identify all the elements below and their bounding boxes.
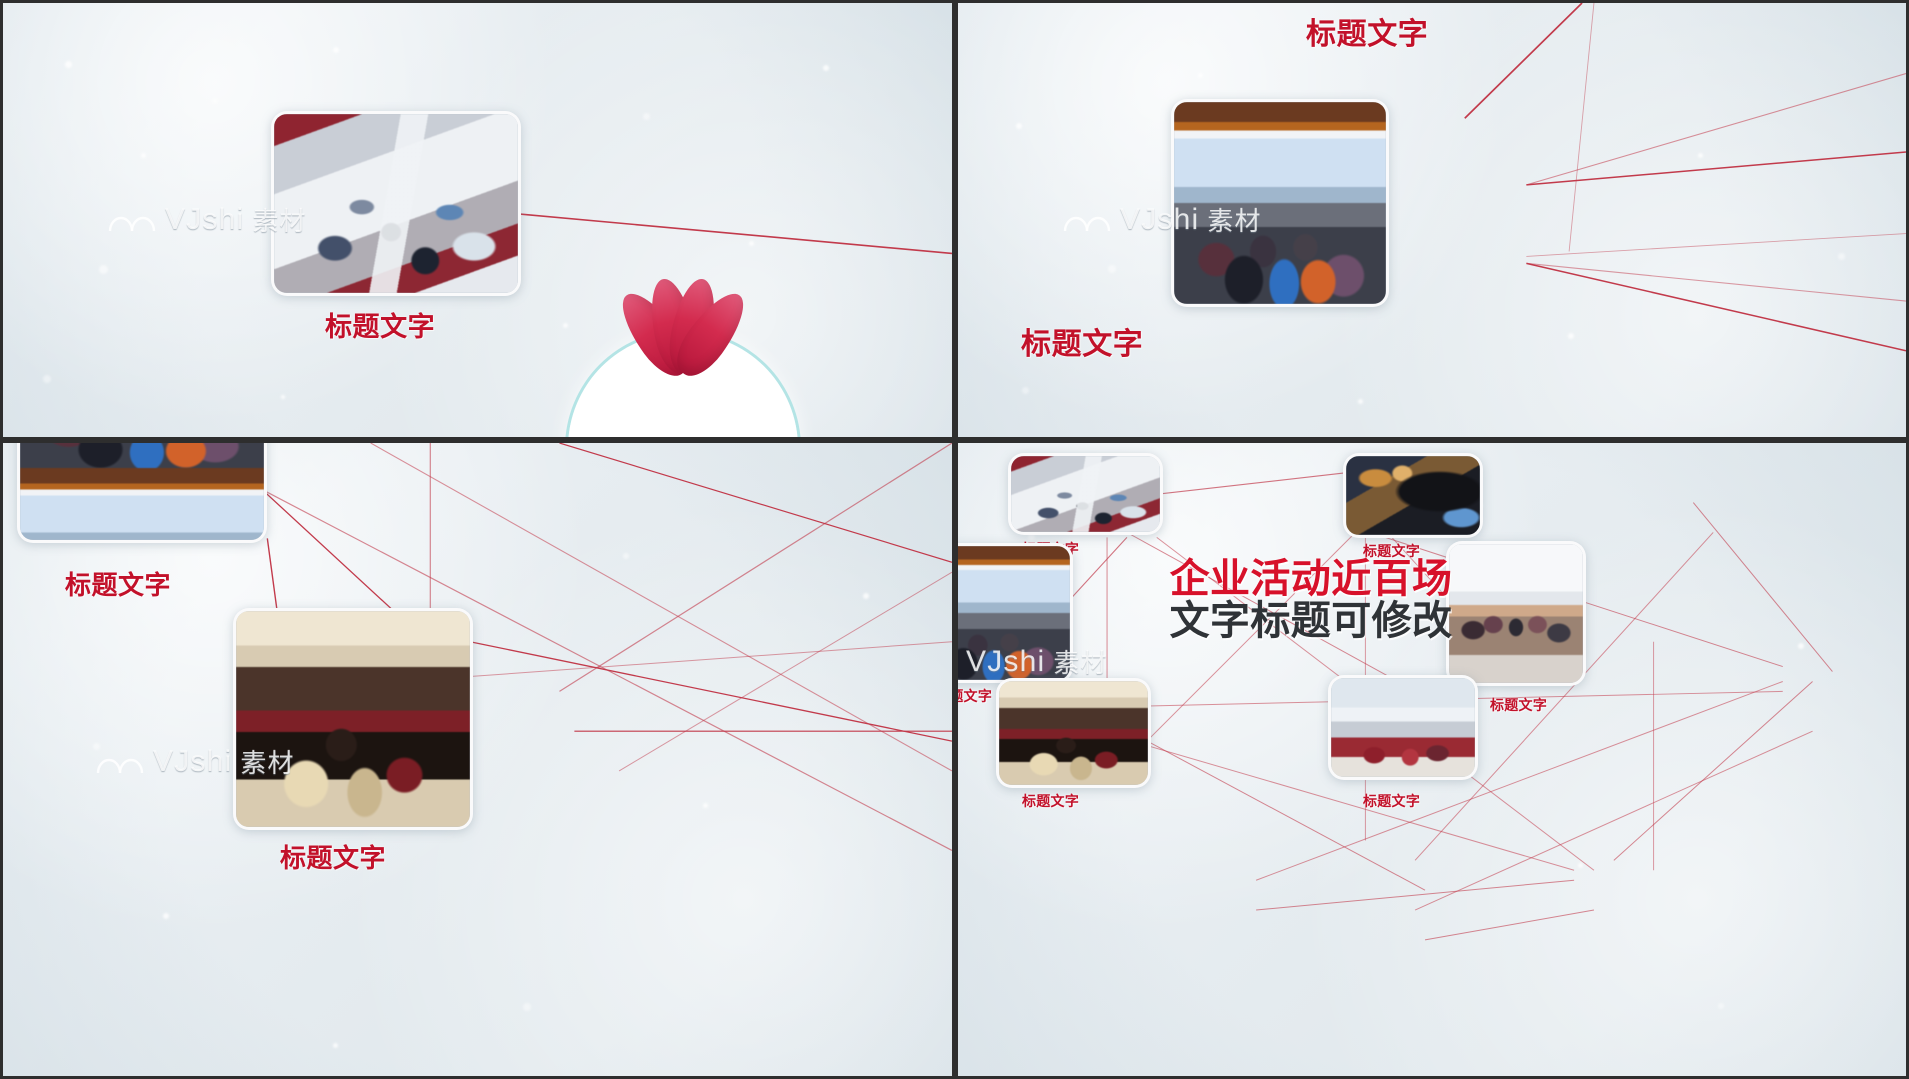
photo-card-exhibition[interactable]: [271, 111, 521, 296]
callout-label-1: 标题文字: [1306, 9, 1428, 53]
photo-label-4: 标题文字: [1490, 695, 1547, 715]
photo-label-1: 标题文字: [1021, 319, 1143, 363]
background-bloom: [958, 3, 1906, 437]
main-headline: 企业活动近百场 文字标题可修改: [1096, 558, 1526, 643]
preview-frame-4[interactable]: 标题文字 标题文字 标题文字 标题文字 标题文字 标题文字 企业活动近百场 文字…: [955, 440, 1909, 1079]
preview-frame-1[interactable]: 标题文字 VJshi 素材: [0, 0, 955, 440]
photo-round-table-meeting: [999, 681, 1148, 785]
headline-line-2: 文字标题可修改: [1096, 600, 1526, 642]
photo-lecture-hall: [955, 546, 1070, 680]
photo-stage-speaker: [1346, 456, 1480, 535]
preview-grid: 标题文字 VJshi 素材: [0, 0, 1909, 1079]
photo-card-stage-speaker[interactable]: [1343, 453, 1483, 538]
photo-banquet-hall: [1331, 678, 1475, 777]
vjshi-logo-icon: [107, 205, 157, 235]
photo-label-5: 标题文字: [1022, 791, 1079, 811]
connector-lines: [958, 3, 1906, 440]
watermark-brand: VJshi: [153, 745, 232, 779]
watermark-brand: VJshi: [165, 203, 244, 237]
preview-frame-2[interactable]: 标题文字 标题文字 VJshi 素材: [955, 0, 1909, 440]
vjshi-logo-icon: [95, 747, 145, 777]
photo-card-lecture[interactable]: [955, 543, 1073, 683]
headline-line-1: 企业活动近百场: [1096, 558, 1526, 600]
preview-frame-3[interactable]: 标题文字 标题文字 VJshi 素材: [0, 440, 955, 1079]
photo-card-lecture-crop[interactable]: [17, 440, 267, 543]
photo-card-exhibition[interactable]: [1008, 453, 1163, 535]
bokeh-specks: [958, 3, 1906, 437]
photo-label-6: 标题文字: [1363, 791, 1420, 811]
photo-label-1: 标题文字: [325, 305, 435, 344]
photo-card-banquet[interactable]: [1328, 675, 1478, 780]
photo-label-1: 标题文字: [65, 565, 171, 602]
photo-label-2: 标题文字: [280, 838, 386, 875]
photo-card-round-table[interactable]: [996, 678, 1151, 788]
photo-round-table-meeting: [236, 611, 470, 827]
photo-exhibition-hall: [274, 114, 518, 293]
photo-lecture-hall: [1174, 102, 1386, 304]
photo-exhibition-hall: [1011, 456, 1160, 532]
photo-card-round-table[interactable]: [233, 608, 473, 830]
photo-label-3: 标题文字: [955, 686, 992, 706]
vjshi-logo-icon: [1062, 205, 1112, 235]
photo-card-lecture[interactable]: [1171, 99, 1389, 307]
photo-lecture-hall-crop: [20, 440, 264, 540]
